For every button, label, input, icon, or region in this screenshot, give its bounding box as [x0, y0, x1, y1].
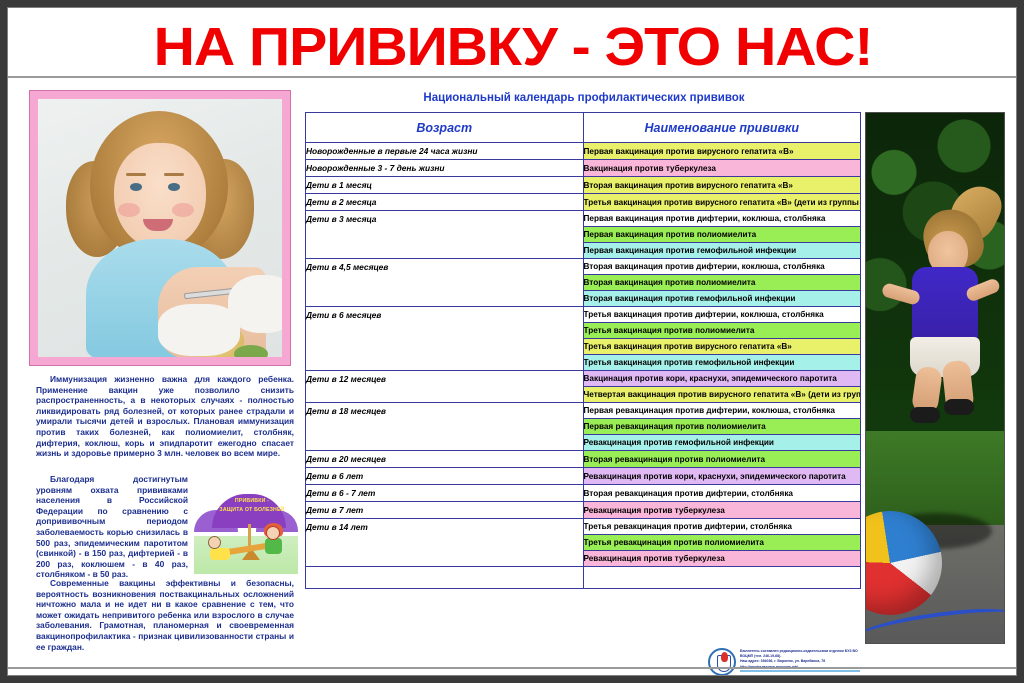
age-cell: Новорожденные 3 - 7 день жизни	[306, 160, 584, 177]
age-cell: Дети в 6 - 7 лет	[306, 485, 584, 502]
vaccine-cell: Вакцинация против кори, краснухи, эпидем…	[583, 371, 861, 387]
jumping-girl-photo	[865, 112, 1005, 644]
vaccine-cell: Третья вакцинация против вирусного гепат…	[583, 194, 861, 211]
vaccine-cell: Вторая вакцинация против дифтерии, коклю…	[583, 259, 861, 275]
vaccine-cell: Первая вакцинация против вирусного гепат…	[583, 143, 861, 160]
vaccine-cell: Первая ревакцинация против дифтерии, кок…	[583, 403, 861, 419]
table-row-empty	[306, 567, 861, 589]
vaccine-cell: Третья вакцинация против дифтерии, коклю…	[583, 307, 861, 323]
footer-bar-light	[740, 670, 860, 672]
calendar-subtitle: Национальный календарь профилактических …	[304, 92, 864, 104]
table-row: Дети в 1 месяцВторая вакцинация против в…	[306, 177, 861, 194]
organization-logo-icon	[708, 648, 736, 676]
logo-flame	[721, 652, 728, 662]
title-divider	[8, 76, 1017, 78]
poster-canvas: НА ПРИВИВКУ - ЭТО НАС! Иммунизация жизне…	[7, 7, 1017, 676]
column-header-vaccine: Наименование прививки	[583, 113, 861, 143]
table-row: Дети в 4,5 месяцевВторая вакцинация прот…	[306, 259, 861, 275]
age-cell: Дети в 12 месяцев	[306, 371, 584, 403]
table-row: Дети в 20 месяцевВторая ревакцинация про…	[306, 451, 861, 468]
vaccination-photo-frame	[29, 90, 291, 366]
table-header-row: Возраст Наименование прививки	[306, 113, 861, 143]
age-cell: Дети в 2 месяца	[306, 194, 584, 211]
table-body: Новорожденные в первые 24 часа жизниПерв…	[306, 143, 861, 589]
vaccine-cell: Вторая ревакцинация против дифтерии, сто…	[583, 485, 861, 502]
photo-glove-right	[228, 275, 282, 333]
footer-credit: Бюллетень составлен редакционно-издатель…	[708, 648, 864, 676]
vaccine-cell: Вторая вакцинация против вирусного гепат…	[583, 177, 861, 194]
age-cell: Дети в 20 месяцев	[306, 451, 584, 468]
age-cell-empty	[306, 567, 584, 589]
table-row: Дети в 18 месяцевПервая ревакцинация про…	[306, 403, 861, 419]
vaccination-calendar-table: Возраст Наименование прививки Новорожден…	[305, 112, 861, 589]
umbrella-text-line2: ЗАЩИТА ОТ БОЛЕЗНЕЙ	[218, 507, 286, 513]
photo-toy-leaf	[234, 345, 268, 357]
seesaw-girl-body	[265, 538, 282, 554]
photo-girl-shoe-left	[910, 407, 940, 423]
column-header-age: Возраст	[306, 113, 584, 143]
seesaw-girl-head	[266, 526, 280, 540]
age-cell: Дети в 3 месяца	[306, 211, 584, 259]
umbrella-illustration: ПРИВИВКИ - ЗАЩИТА ОТ БОЛЕЗНЕЙ	[194, 490, 298, 574]
vaccine-cell: Первая вакцинация против полиомиелита	[583, 227, 861, 243]
paragraph-safety: Современные вакцины эффективны и безопас…	[36, 578, 294, 652]
vaccine-cell: Вторая ревакцинация против полиомиелита	[583, 451, 861, 468]
vaccine-cell: Третья вакцинация против вирусного гепат…	[583, 339, 861, 355]
table-row: Новорожденные в первые 24 часа жизниПерв…	[306, 143, 861, 160]
photo-eye-right	[168, 183, 180, 191]
vaccine-cell: Третья ревакцинация против дифтерии, сто…	[583, 519, 861, 535]
vaccine-cell: Первая ревакцинация против полиомиелита	[583, 419, 861, 435]
age-cell: Дети в 14 лет	[306, 519, 584, 567]
table-row: Дети в 3 месяцаПервая вакцинация против …	[306, 211, 861, 227]
vaccine-cell: Четвертая вакцинация против вирусного ге…	[583, 387, 861, 403]
photo-brow-right	[164, 173, 184, 176]
seesaw-boy-body	[210, 548, 230, 560]
photo-girl	[896, 209, 990, 429]
vaccine-cell: Третья ревакцинация против полиомиелита	[583, 535, 861, 551]
age-cell: Дети в 1 месяц	[306, 177, 584, 194]
vaccine-cell: Третья вакцинация против гемофильной инф…	[583, 355, 861, 371]
umbrella-text-line1: ПРИВИВКИ -	[224, 498, 280, 504]
photo-face	[114, 143, 206, 249]
page-title: НА ПРИВИВКУ - ЭТО НАС!	[7, 16, 1017, 78]
vaccination-photo	[38, 99, 282, 357]
paragraph-statistics: Благодаря достигнутым уровням охвата при…	[36, 474, 188, 580]
age-cell: Дети в 4,5 месяцев	[306, 259, 584, 307]
photo-cheek-left	[118, 203, 140, 217]
vaccine-cell: Ревакцинация против туберкулеза	[583, 502, 861, 519]
vaccine-cell: Ревакцинация против гемофильной инфекции	[583, 435, 861, 451]
age-cell: Дети в 6 месяцев	[306, 307, 584, 371]
table-row: Дети в 7 летРевакцинация против туберкул…	[306, 502, 861, 519]
age-cell: Дети в 18 месяцев	[306, 403, 584, 451]
table-row: Новорожденные 3 - 7 день жизниВакцинация…	[306, 160, 861, 177]
photo-cheek-right	[172, 203, 194, 217]
table-row: Дети в 6 месяцевТретья вакцинация против…	[306, 307, 861, 323]
vaccine-cell: Ревакцинация против туберкулеза	[583, 551, 861, 567]
vaccine-cell: Вакцинация против туберкулеза	[583, 160, 861, 177]
age-cell: Дети в 6 лет	[306, 468, 584, 485]
vaccine-cell: Вторая вакцинация против полиомиелита	[583, 275, 861, 291]
bottom-divider	[8, 667, 1017, 669]
vaccine-cell: Ревакцинация против кори, краснухи, эпид…	[583, 468, 861, 485]
seesaw-boy-head	[208, 536, 221, 549]
footer-line-1: Бюллетень составлен редакционно-издатель…	[740, 649, 864, 659]
photo-girl-shoe-right	[944, 399, 974, 415]
table-row: Дети в 12 месяцевВакцинация против кори,…	[306, 371, 861, 387]
table-row: Дети в 6 - 7 летВторая ревакцинация прот…	[306, 485, 861, 502]
photo-girl-shirt	[912, 267, 978, 343]
vaccine-cell: Третья вакцинация против полиомиелита	[583, 323, 861, 339]
vaccine-cell: Вторая вакцинация против гемофильной инф…	[583, 291, 861, 307]
vaccine-cell: Первая вакцинация против гемофильной инф…	[583, 243, 861, 259]
table-row: Дети в 6 летРевакцинация против кори, кр…	[306, 468, 861, 485]
table-row: Дети в 14 летТретья ревакцинация против …	[306, 519, 861, 535]
age-cell: Дети в 7 лет	[306, 502, 584, 519]
vaccine-cell: Первая вакцинация против дифтерии, коклю…	[583, 211, 861, 227]
age-cell: Новорожденные в первые 24 часа жизни	[306, 143, 584, 160]
photo-brow-left	[126, 173, 146, 176]
vaccine-cell-empty	[583, 567, 861, 589]
photo-eye-left	[130, 183, 142, 191]
paragraph-immunization: Иммунизация жизненно важна для каждого р…	[36, 374, 294, 459]
table-row: Дети в 2 месяцаТретья вакцинация против …	[306, 194, 861, 211]
